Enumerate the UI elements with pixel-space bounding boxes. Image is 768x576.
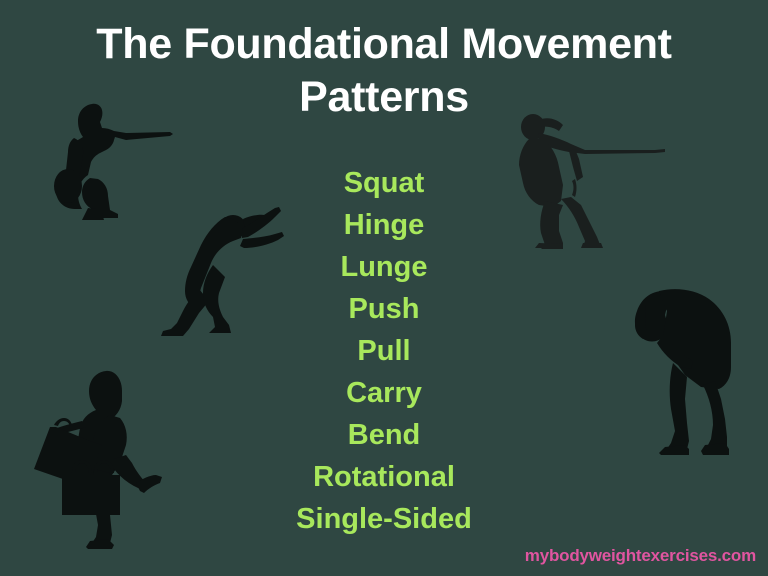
poster-canvas: The Foundational Movement Patterns Squat… [0, 0, 768, 576]
pattern-item: Pull [234, 330, 534, 372]
pattern-item: Squat [234, 162, 534, 204]
page-title: The Foundational Movement Patterns [0, 18, 768, 124]
pattern-item: Rotational [234, 456, 534, 498]
title-line-1: The Foundational Movement [0, 18, 768, 71]
pattern-item: Lunge [234, 246, 534, 288]
bend-silhouette [615, 275, 755, 455]
title-line-2: Patterns [0, 71, 768, 124]
pattern-item: Single-Sided [234, 498, 534, 540]
pattern-item: Push [234, 288, 534, 330]
pattern-item: Carry [234, 372, 534, 414]
pattern-item: Bend [234, 414, 534, 456]
movement-pattern-list: SquatHingeLungePushPullCarryBendRotation… [234, 162, 534, 540]
carry-silhouette [10, 365, 175, 550]
pattern-item: Hinge [234, 204, 534, 246]
site-watermark: mybodyweightexercises.com [525, 546, 756, 566]
